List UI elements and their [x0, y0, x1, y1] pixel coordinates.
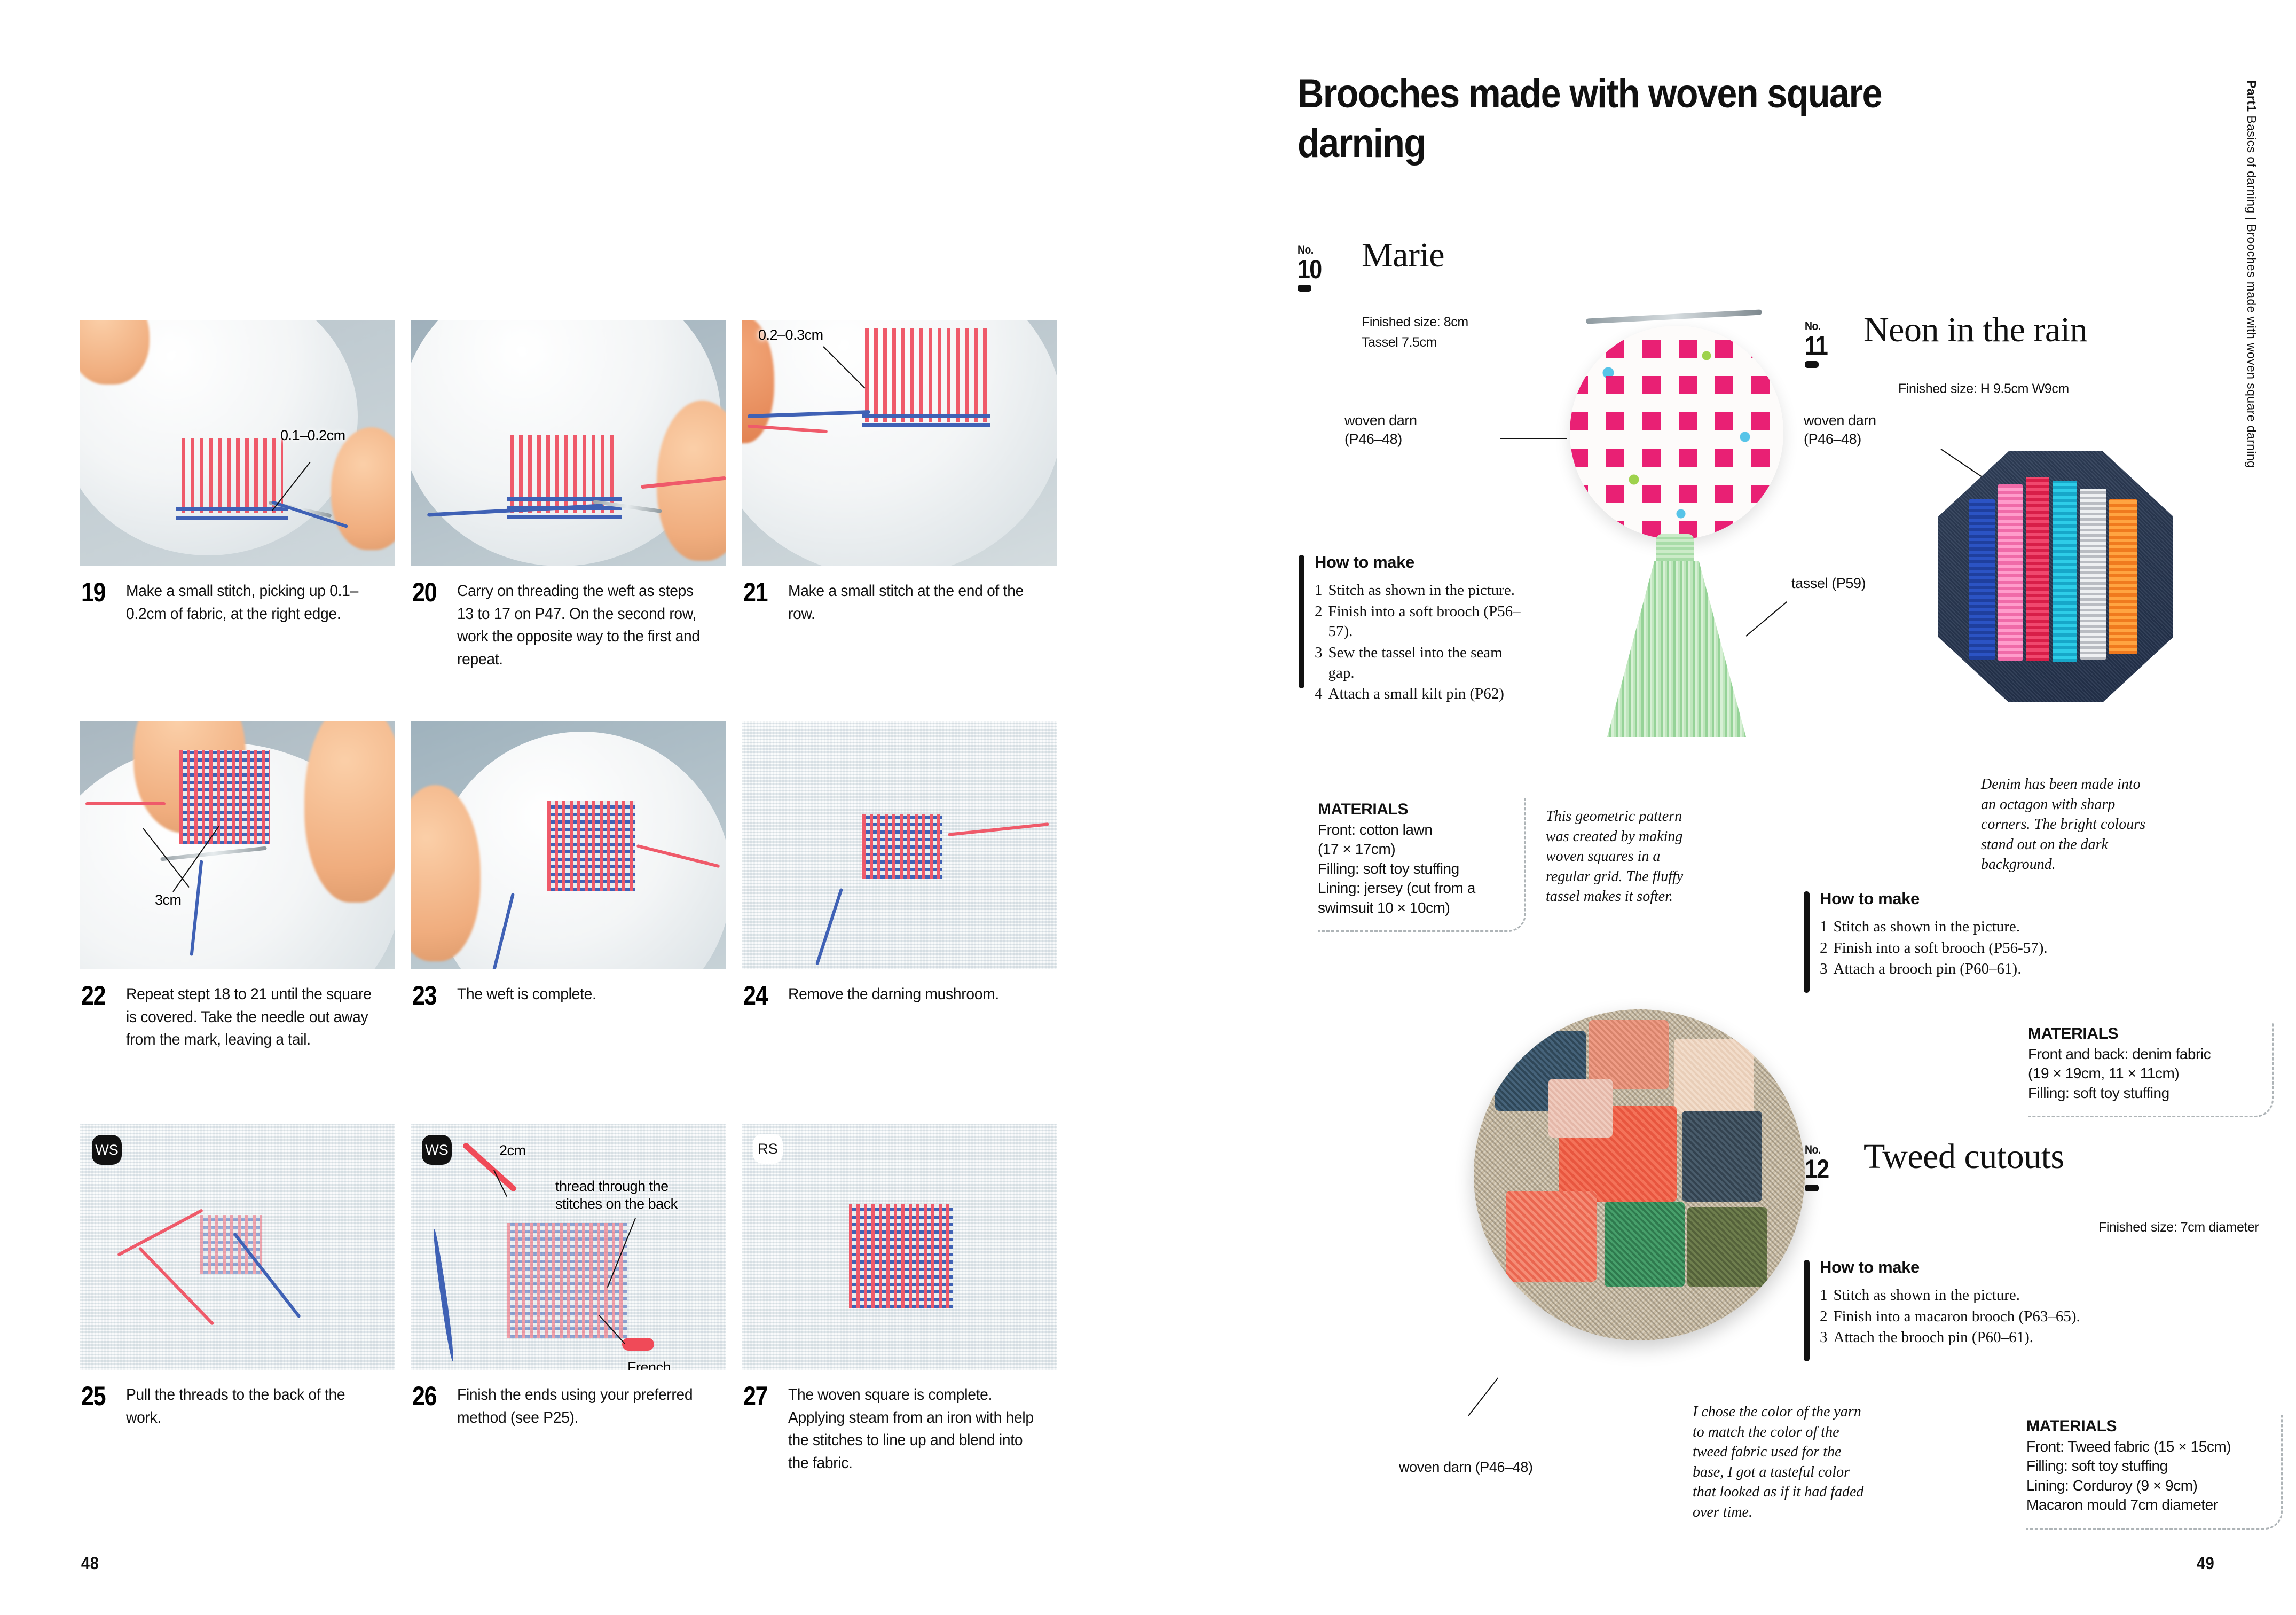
neon-stripe-red: [2026, 477, 2049, 661]
materials-12: MATERIALS Front: Tweed fabric (15 × 15cm…: [2026, 1415, 2283, 1530]
project-no-value: 12: [1805, 1157, 1847, 1182]
project-finished-size-11: Finished size: H 9.5cm W9cm: [1898, 379, 2069, 399]
callout-leader-line: [1468, 1377, 1498, 1416]
step-photo-25: WS: [80, 1124, 395, 1370]
page-title: Brooches made with woven square darning: [1298, 69, 1922, 168]
list-index: 2: [1315, 602, 1323, 642]
step-photo-22: 3cm: [80, 721, 395, 969]
list-index: 2: [1820, 1307, 1828, 1327]
step-caption-25: 25 Pull the threads to the back of the w…: [80, 1370, 395, 1525]
french-knot: [622, 1338, 654, 1351]
step-photo-21: 0.2–0.3cm: [742, 320, 1057, 566]
tweed-patch-green: [1605, 1202, 1685, 1287]
measure-0-1-0-2cm-label: 0.1–0.2cm: [280, 427, 345, 444]
list-item: 1Stitch as shown in the picture.: [1820, 1285, 2177, 1306]
neon-stripe-cyan: [2053, 481, 2077, 662]
step-text: Repeat stept 18 to 21 until the square i…: [126, 983, 372, 1052]
step-cell-25: WS 25 Pull the threads to the back of th…: [80, 1124, 395, 1525]
step-cell-21: 0.2–0.3cm 21 Make a small stitch at the …: [742, 320, 1057, 721]
warp-threads: [865, 328, 988, 422]
step-text: Pull the threads to the back of the work…: [126, 1384, 372, 1429]
list-item: 2Finish into a macaron brooch (P63–65).: [1820, 1307, 2177, 1327]
list-item: 1Stitch as shown in the picture.: [1820, 917, 2156, 937]
materials-text: Front and back: denim fabric (19 × 19cm,…: [2028, 1045, 2261, 1103]
how-to-make-12: How to make 1Stitch as shown in the pict…: [1804, 1258, 2177, 1349]
step-caption-24: 24 Remove the darning mushroom.: [742, 969, 1057, 1124]
woven-square: [849, 1204, 953, 1308]
warp-threads: [182, 438, 283, 513]
how-to-make-list: 1Stitch as shown in the picture. 2Finish…: [1820, 1285, 2177, 1348]
step-number: 24: [743, 983, 782, 1008]
book-spread: 0.1–0.2cm 19 Make a small stitch, pickin…: [0, 0, 2296, 1615]
project-number-11: No. 11: [1805, 319, 1854, 368]
list-text: Finish into a soft brooch (P56–57).: [1328, 602, 1523, 642]
tweed-patch-charcoal: [1682, 1111, 1762, 1202]
step-text: Make a small stitch, picking up 0.1–0.2c…: [126, 580, 372, 625]
list-index: 2: [1820, 938, 1828, 959]
how-to-make-11: How to make 1Stitch as shown in the pict…: [1804, 889, 2156, 981]
step-number: 19: [81, 580, 120, 605]
project-number-12: No. 12: [1805, 1143, 1854, 1191]
neon-stripe-pink: [1998, 484, 2023, 661]
project-finished-size-12: Finished size: 7cm diameter: [2098, 1218, 2259, 1238]
how-to-make-heading: How to make: [1820, 1258, 2177, 1277]
materials-heading: MATERIALS: [2026, 1417, 2270, 1436]
project-no-dot: [1805, 1185, 1819, 1191]
step-text: The woven square is complete. Applying s…: [788, 1384, 1034, 1475]
neon-stripe-orange: [2109, 499, 2137, 654]
how-to-make-10: How to make 1Stitch as shown in the pict…: [1299, 553, 1523, 705]
running-head-side-tab: Part1 Basics of darning | Brooches made …: [2244, 80, 2259, 468]
tweed-patch-blush: [1548, 1079, 1613, 1138]
step-text: Finish the ends using your preferred met…: [457, 1384, 703, 1429]
measure-0-2-0-3cm-label: 0.2–0.3cm: [758, 327, 823, 343]
tweed-patch-olive: [1687, 1207, 1767, 1287]
step-text: Make a small stitch at the end of the ro…: [788, 580, 1034, 625]
step-text: Remove the darning mushroom.: [788, 983, 999, 1006]
step-text: The weft is complete.: [457, 983, 596, 1006]
woven-square: [547, 801, 635, 891]
step-caption-19: 19 Make a small stitch, picking up 0.1–0…: [80, 566, 395, 721]
list-text: Attach a small kilt pin (P62): [1328, 684, 1523, 704]
page-number-right: 49: [2197, 1554, 2215, 1573]
kilt-pin: [1586, 309, 1762, 324]
woven-square: [200, 1215, 262, 1274]
list-item: 3Sew the tassel into the seam gap.: [1315, 643, 1523, 683]
step-number: 26: [412, 1384, 451, 1408]
woven-darn-callout-11: woven darn (P46–48): [1804, 411, 1876, 449]
project-note-10: This geometric pattern was created by ma…: [1546, 806, 1690, 907]
step-caption-26: 26 Finish the ends using your preferred …: [411, 1370, 726, 1525]
step-cell-20: 20 Carry on threading the weft as steps …: [411, 320, 726, 721]
step-cell-24: 24 Remove the darning mushroom.: [742, 721, 1057, 1124]
how-to-make-list: 1Stitch as shown in the picture. 2Finish…: [1315, 581, 1523, 704]
step-cell-23: 23 The weft is complete.: [411, 721, 726, 1124]
left-page: 0.1–0.2cm 19 Make a small stitch, pickin…: [0, 0, 1148, 1615]
list-index: 3: [1820, 959, 1828, 979]
step-number: 23: [412, 983, 451, 1008]
tassel-callout-10: tassel (P59): [1791, 574, 1866, 593]
materials-text: Front: cotton lawn (17 × 17cm) Filling: …: [1318, 820, 1514, 918]
project-no-value: 10: [1298, 257, 1340, 283]
step-caption-23: 23 The weft is complete.: [411, 969, 726, 1124]
side-tab-text: Basics of darning | Brooches made with w…: [2245, 115, 2259, 468]
list-index: 4: [1315, 684, 1323, 704]
tweed-patch-coral: [1506, 1191, 1597, 1282]
neon-stripe-silver: [2080, 489, 2106, 660]
woven-darn-callout-10: woven darn (P46–48): [1344, 411, 1417, 449]
list-text: Finish into a macaron brooch (P63–65).: [1834, 1307, 2178, 1327]
weft-threads: [176, 505, 288, 520]
project-finished-size-10: Finished size: 8cm Tassel 7.5cm: [1362, 312, 1468, 352]
step-number: 20: [412, 580, 451, 605]
measure-2cm-label: 2cm: [499, 1142, 526, 1159]
accent-bar: [1299, 555, 1304, 688]
step-caption-21: 21 Make a small stitch at the end of the…: [742, 566, 1057, 721]
list-item: 2Finish into a soft brooch (P56-57).: [1820, 938, 2156, 959]
french-knot-label: French: [627, 1359, 671, 1370]
step-text: Carry on threading the weft as steps 13 …: [457, 580, 703, 671]
tweed-patch-cream: [1674, 1039, 1754, 1114]
brooch-photo-tweed: [1474, 1009, 1805, 1340]
list-index: 3: [1820, 1328, 1828, 1348]
list-item: 4Attach a small kilt pin (P62): [1315, 684, 1523, 704]
project-note-11: Denim has been made into an octagon with…: [1981, 774, 2157, 875]
step-cell-27: RS 27 The woven square is complete. Appl…: [742, 1124, 1057, 1525]
project-no-dot: [1805, 361, 1819, 368]
step-grid: 0.1–0.2cm 19 Make a small stitch, pickin…: [80, 320, 1057, 1525]
materials-text: Front: Tweed fabric (15 × 15cm) Filling:…: [2026, 1437, 2270, 1515]
list-index: 1: [1820, 917, 1828, 937]
project-note-12: I chose the color of the yarn to match t…: [1693, 1402, 1869, 1522]
step-photo-24: [742, 721, 1057, 969]
side-badge-rs: RS: [753, 1134, 783, 1164]
step-number: 27: [743, 1384, 782, 1408]
step-photo-23: [411, 721, 726, 969]
project-name-10: Marie: [1362, 235, 1444, 276]
finger: [304, 721, 395, 903]
accent-bar: [1804, 891, 1810, 993]
callout-leader-line: [1500, 438, 1567, 439]
woven-square: [862, 814, 942, 879]
step-number: 22: [81, 983, 120, 1008]
list-text: Finish into a soft brooch (P56-57).: [1834, 938, 2157, 959]
side-tab-part: Part1: [2245, 80, 2259, 112]
list-item: 3Attach the brooch pin (P60–61).: [1820, 1328, 2177, 1348]
step-photo-19: 0.1–0.2cm: [80, 320, 395, 566]
list-index: 1: [1820, 1285, 1828, 1306]
step-caption-22: 22 Repeat stept 18 to 21 until the squar…: [80, 969, 395, 1124]
how-to-make-heading: How to make: [1820, 889, 2156, 908]
list-text: Stitch as shown in the picture.: [1328, 581, 1523, 601]
measure-3cm-label: 3cm: [155, 892, 182, 908]
step-caption-27: 27 The woven square is complete. Applyin…: [742, 1370, 1057, 1525]
step-cell-19: 0.1–0.2cm 19 Make a small stitch, pickin…: [80, 320, 395, 721]
step-cell-26: WS 2cm thread through the stitches on th…: [411, 1124, 726, 1525]
step-number: 21: [743, 580, 782, 605]
list-item: 2Finish into a soft brooch (P56–57).: [1315, 602, 1523, 642]
project-no-value: 11: [1805, 333, 1847, 359]
project-no-dot: [1298, 285, 1311, 292]
materials-11: MATERIALS Front and back: denim fabric (…: [2028, 1023, 2274, 1117]
list-text: Stitch as shown in the picture.: [1834, 917, 2157, 937]
weft-threads: [862, 409, 990, 427]
step-photo-20: [411, 320, 726, 566]
callout-leader-line: [1745, 601, 1787, 637]
woven-darn-callout-12: woven darn (P46–48): [1399, 1458, 1533, 1477]
materials-10: MATERIALS Front: cotton lawn (17 × 17cm)…: [1318, 798, 1526, 932]
step-caption-20: 20 Carry on threading the weft as steps …: [411, 566, 726, 721]
list-text: Attach a brooch pin (P60–61).: [1834, 959, 2157, 979]
list-index: 3: [1315, 643, 1323, 683]
step-cell-22: 3cm 22 Repeat stept 18 to 21 until the s…: [80, 721, 395, 1124]
step-photo-26: WS 2cm thread through the stitches on th…: [411, 1124, 726, 1370]
thread-through-note: thread through the stitches on the back: [555, 1178, 689, 1213]
neon-stripe-blue: [1969, 499, 1995, 660]
red-thread: [85, 802, 166, 805]
project-name-11: Neon in the rain: [1863, 310, 2087, 350]
brooch-photo-marie: [1570, 326, 1783, 539]
materials-heading: MATERIALS: [1318, 801, 1514, 819]
step-number: 25: [81, 1384, 120, 1408]
side-badge-ws: WS: [422, 1135, 452, 1165]
right-page: Brooches made with woven square darning …: [1148, 0, 2296, 1615]
materials-heading: MATERIALS: [2028, 1025, 2261, 1043]
brooch-photo-neon: [1938, 451, 2173, 702]
list-item: 1Stitch as shown in the picture.: [1315, 581, 1523, 601]
woven-square-grid: [1570, 326, 1783, 539]
project-name-12: Tweed cutouts: [1863, 1136, 2064, 1177]
list-text: Attach the brooch pin (P60–61).: [1834, 1328, 2178, 1348]
list-item: 3Attach a brooch pin (P60–61).: [1820, 959, 2156, 979]
how-to-make-list: 1Stitch as shown in the picture. 2Finish…: [1820, 917, 2156, 979]
list-index: 1: [1315, 581, 1323, 601]
page-number-left: 48: [81, 1554, 99, 1573]
tassel: [1607, 561, 1746, 737]
list-text: Sew the tassel into the seam gap.: [1328, 643, 1523, 683]
side-badge-ws: WS: [92, 1135, 122, 1165]
step-photo-27: RS: [742, 1124, 1057, 1370]
woven-square: [179, 750, 270, 844]
how-to-make-heading: How to make: [1315, 553, 1523, 572]
list-text: Stitch as shown in the picture.: [1834, 1285, 2178, 1306]
project-number-10: No. 10: [1298, 243, 1347, 292]
